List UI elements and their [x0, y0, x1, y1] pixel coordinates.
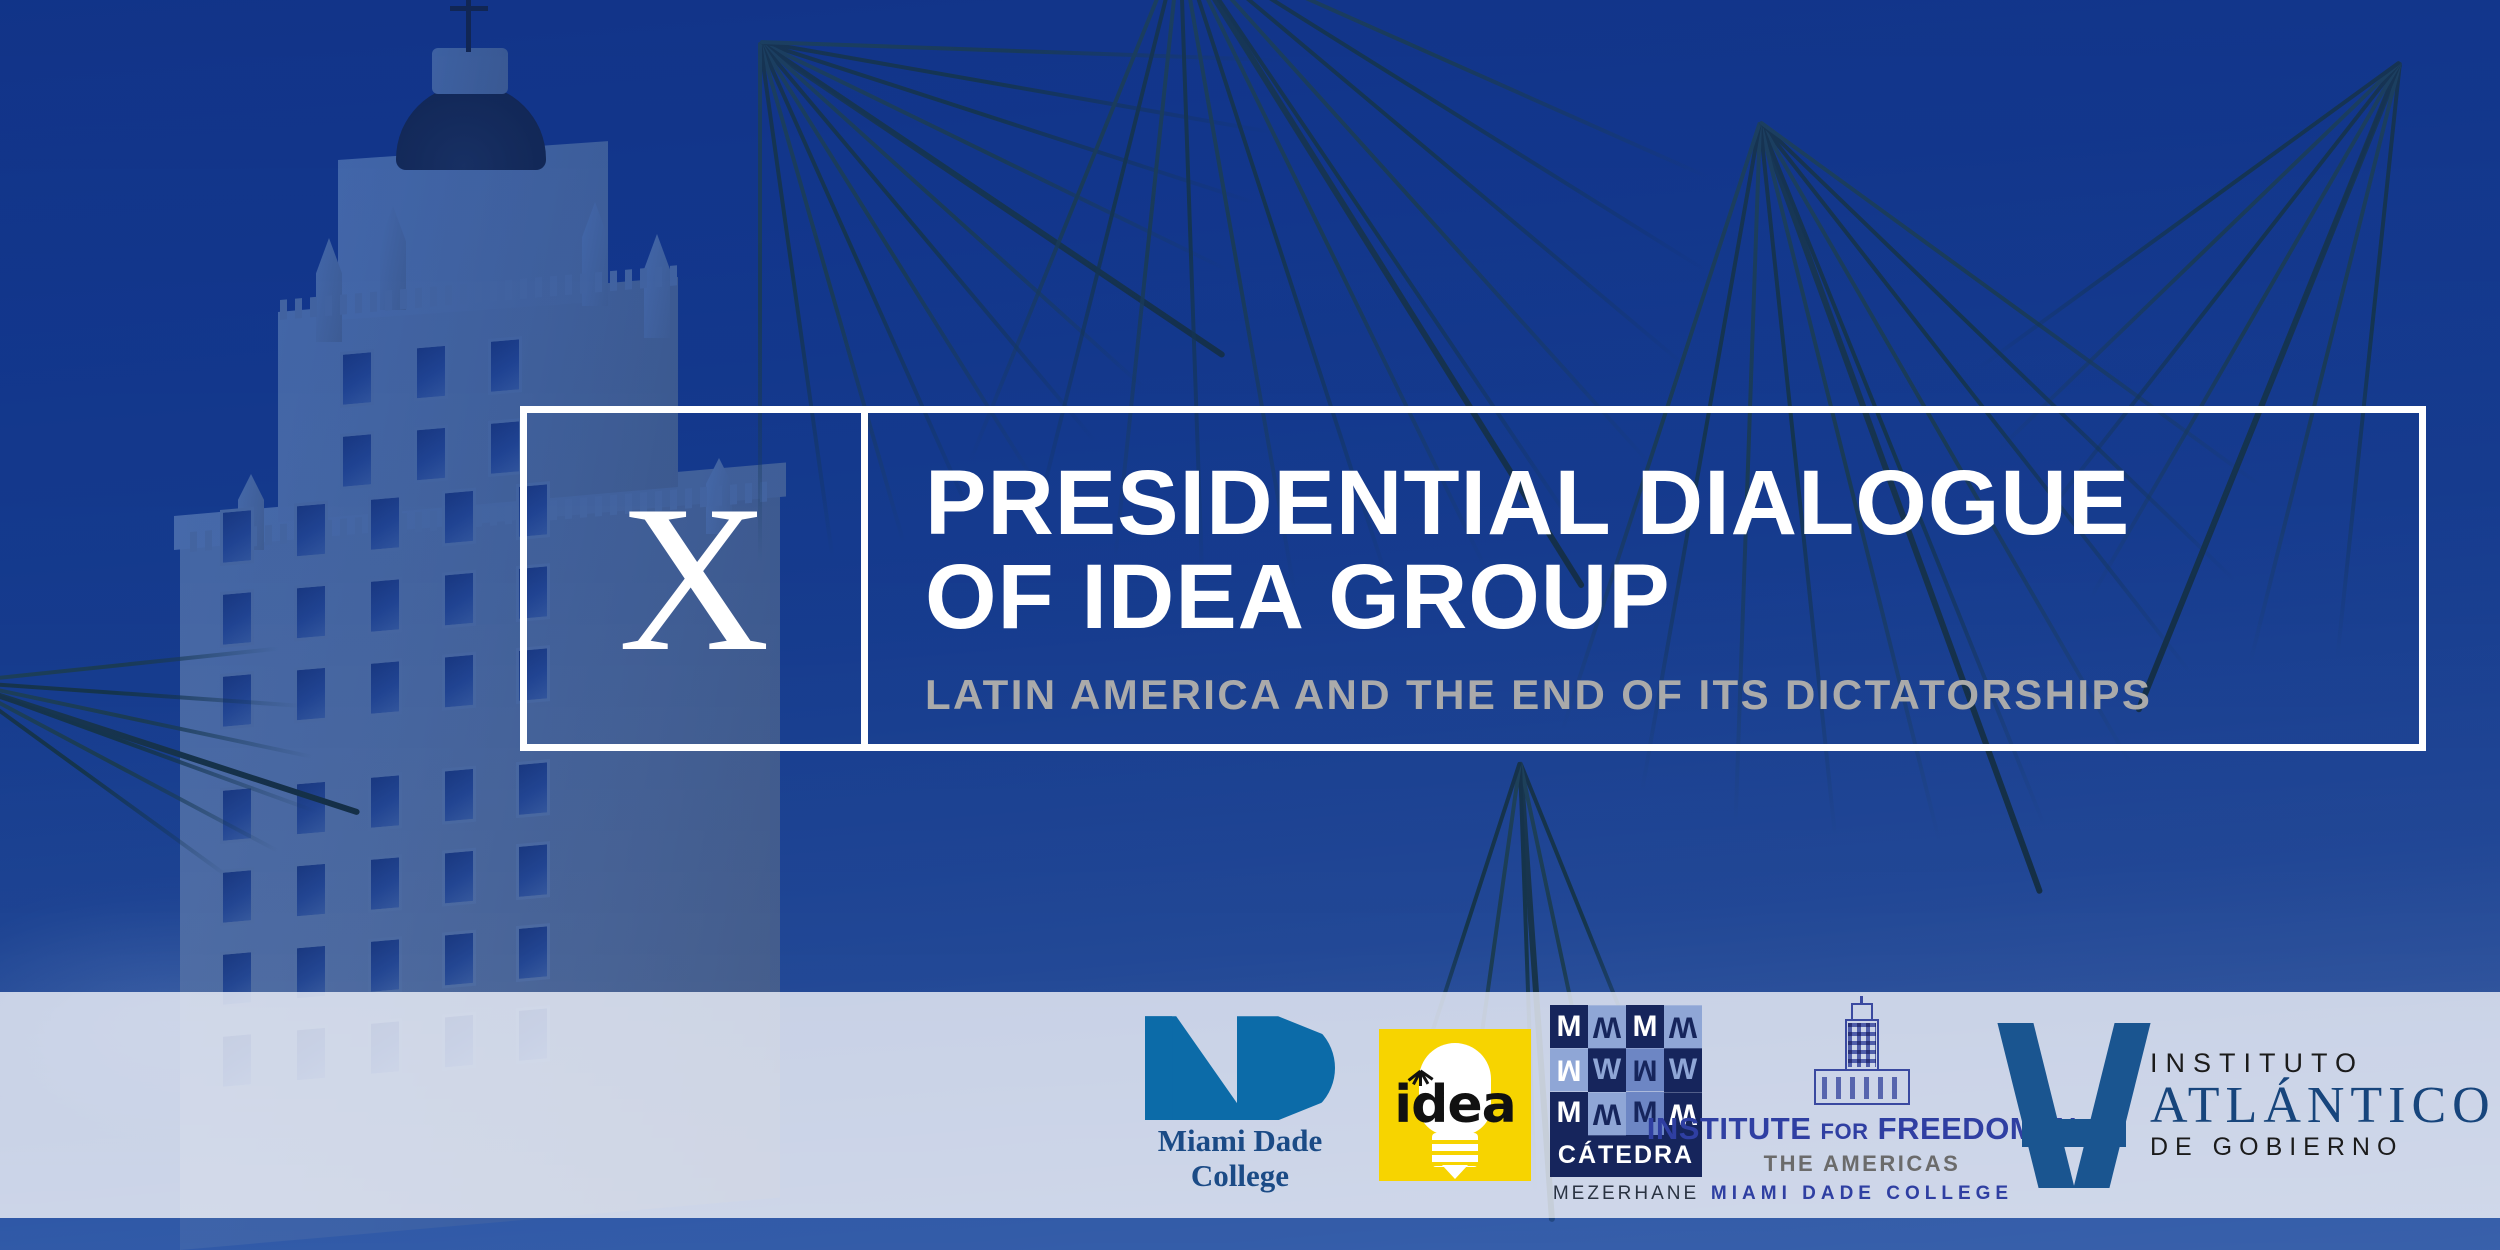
atlantico-wordmark: INSTITUTO ATLÁNTICO DE GOBIERNO — [2150, 1048, 2496, 1163]
atlantico-a-monogram-icon — [2012, 1023, 2144, 1188]
spark-icon — [1403, 1057, 1437, 1087]
catedra-cell: M — [1550, 1005, 1588, 1048]
title-line-2: OF IDEA GROUP — [925, 551, 2379, 645]
title-frame: X PRESIDENTIAL DIALOGUE OF IDEA GROUP LA… — [520, 406, 2426, 751]
ifa-line-2: THE AMERICAS — [1764, 1151, 1961, 1177]
catedra-cell: M — [1626, 1005, 1664, 1048]
title-line-1: PRESIDENTIAL DIALOGUE — [925, 457, 2379, 551]
idea-logo: idea — [1370, 1005, 1540, 1205]
mdc-line-2: College — [1158, 1159, 1322, 1194]
mdc-wordmark: Miami Dade College — [1158, 1124, 1322, 1193]
atlantico-line-3: DE GOBIERNO — [2150, 1133, 2496, 1162]
catedra-cell: M — [1550, 1048, 1588, 1091]
catedra-name-label: MEZERHANE — [1545, 1177, 1707, 1205]
catedra-cell: W — [1588, 1092, 1626, 1135]
bottom-blue-strip — [0, 1218, 2500, 1250]
catedra-cell: W — [1664, 1048, 1702, 1091]
miami-dade-college-logo: Miami Dade College — [1110, 1005, 1370, 1205]
edition-numeral-box: X — [527, 413, 868, 744]
mdc-line-1: Miami Dade — [1158, 1124, 1322, 1159]
lightbulb-neck-icon — [1432, 1133, 1478, 1167]
freedom-tower-icon — [1814, 1005, 1910, 1105]
title-text-block: PRESIDENTIAL DIALOGUE OF IDEA GROUP LATI… — [875, 413, 2419, 744]
instituto-atlantico-logo: INSTITUTO ATLÁNTICO DE GOBIERNO — [2012, 1005, 2442, 1205]
poster-subtitle: LATIN AMERICA AND THE END OF ITS DICTATO… — [925, 671, 2379, 719]
ifa-line-3: MIAMI DADE COLLEGE — [1711, 1183, 2013, 1205]
event-poster: X PRESIDENTIAL DIALOGUE OF IDEA GROUP LA… — [0, 0, 2500, 1250]
idea-yellow-square: idea — [1379, 1029, 1531, 1181]
ifa-line-1a: INSTITUTE — [1647, 1111, 1812, 1146]
atlantico-line-1: INSTITUTO — [2150, 1048, 2496, 1079]
atlantico-line-2: ATLÁNTICO — [2150, 1079, 2496, 1134]
catedra-mezerhane-logo: M W M W M W M W M W M W CÁTEDRA MEZERHAN… — [1540, 1005, 1712, 1205]
edition-numeral: X — [618, 495, 770, 663]
lightbulb-tip-icon — [1442, 1165, 1468, 1179]
institute-for-freedom-logo: INSTITUTE FOR FREEDOM IN THE AMERICAS MI… — [1712, 1005, 2012, 1205]
catedra-cell: W — [1588, 1048, 1626, 1091]
sponsor-logo-row: Miami Dade College idea — [1110, 992, 2442, 1218]
catedra-cell: W — [1664, 1005, 1702, 1048]
catedra-cell: M — [1626, 1048, 1664, 1091]
ifa-line-1b: FOR — [1821, 1119, 1869, 1144]
mdc-monogram-icon — [1145, 1016, 1335, 1120]
catedra-cell: W — [1588, 1005, 1626, 1048]
catedra-cell: M — [1550, 1092, 1588, 1135]
